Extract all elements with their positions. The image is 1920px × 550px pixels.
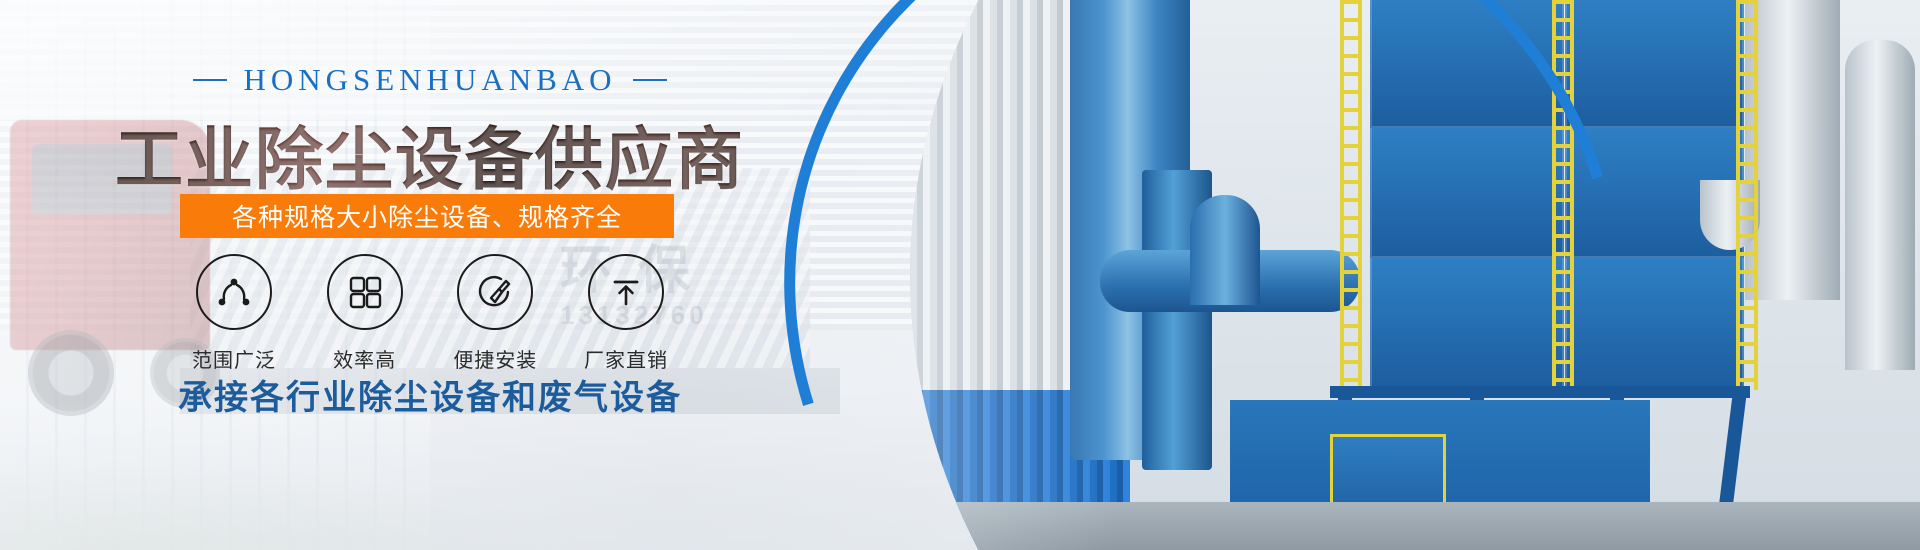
network-nodes-icon — [214, 272, 254, 312]
feature-label: 范围广泛 — [192, 344, 276, 373]
feature-icon-circle — [327, 254, 403, 330]
grid-squares-icon — [346, 273, 384, 311]
hero-banner: 环保 13132760 — [0, 0, 1920, 550]
feature-label: 效率高 — [333, 344, 396, 373]
banner-content: HONGSENHUANBAO 工业除尘设备供应商 各种规格大小除尘设备、规格齐全… — [0, 0, 860, 550]
feature-icon-circle — [196, 254, 272, 330]
subtitle-text: 各种规格大小除尘设备、规格齐全 — [232, 198, 622, 234]
page-title: 工业除尘设备供应商 — [0, 104, 860, 203]
feature-item-range[interactable]: 范围广泛 — [180, 254, 288, 373]
arrow-up-bar-icon — [607, 273, 645, 311]
feature-item-installation[interactable]: 便捷安装 — [441, 254, 549, 373]
eyebrow-text: HONGSENHUANBAO — [243, 62, 616, 97]
eyebrow-dash-left — [193, 79, 227, 81]
feature-item-efficiency[interactable]: 效率高 — [311, 254, 419, 373]
wrench-circle-icon — [475, 272, 515, 312]
subtitle-orange-bar: 各种规格大小除尘设备、规格齐全 — [180, 194, 674, 238]
feature-list: 范围广泛 效率高 — [180, 254, 680, 373]
brand-pinyin-eyebrow: HONGSENHUANBAO — [0, 62, 860, 98]
feature-label: 厂家直销 — [584, 344, 668, 373]
feature-icon-circle — [457, 254, 533, 330]
banner-tagline: 承接各行业除尘设备和废气设备 — [0, 370, 860, 419]
eyebrow-dash-right — [633, 79, 667, 81]
feature-item-factory-direct[interactable]: 厂家直销 — [572, 254, 680, 373]
feature-icon-circle — [588, 254, 664, 330]
feature-label: 便捷安装 — [453, 344, 537, 373]
